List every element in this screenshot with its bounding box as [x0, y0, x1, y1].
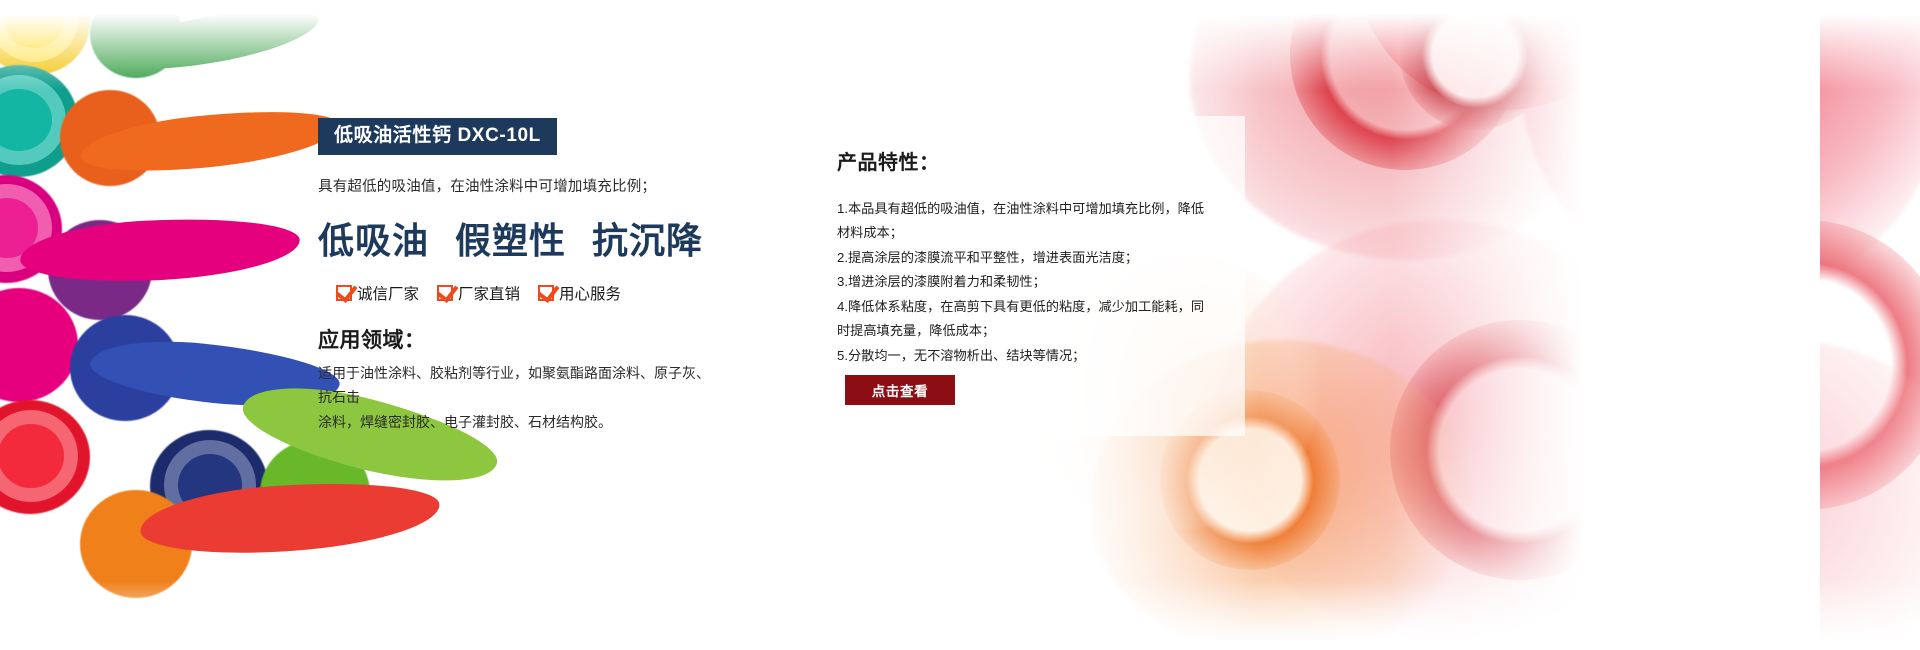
background-fade-mid — [1390, 0, 1820, 650]
application-fields-title: 应用领域： — [318, 324, 748, 354]
background-fade-top — [0, 0, 1920, 90]
checkbox-checked-icon — [437, 285, 453, 301]
checkbox-checked-icon — [538, 285, 554, 301]
feature-item: 4.降低体系粘度，在高剪下具有更低的粘度，减少加工能耗，同时提高填充量，降低成本… — [837, 295, 1215, 344]
view-details-button[interactable]: 点击查看 — [845, 375, 955, 405]
product-subtitle: 具有超低的吸油值，在油性涂料中可增加填充比例； — [318, 175, 748, 196]
headline-word-2: 假塑性 — [455, 221, 566, 261]
product-title-badge: 低吸油活性钙 DXC-10L — [318, 118, 557, 155]
trust-badge-1-label: 诚信厂家 — [357, 282, 419, 304]
feature-item: 2.提高涂层的漆膜流平和平整性，增进表面光洁度； — [837, 246, 1215, 270]
left-content-column: 低吸油活性钙 DXC-10L 具有超低的吸油值，在油性涂料中可增加填充比例； 低… — [318, 118, 748, 434]
feature-item: 3.增进涂层的漆膜附着力和柔韧性； — [837, 270, 1215, 294]
application-fields-line-2: 涂料，焊缝密封胶、电子灌封胶、石材结构胶。 — [318, 410, 718, 435]
features-list: 1.本品具有超低的吸油值，在油性涂料中可增加填充比例，降低材料成本； 2.提高涂… — [837, 197, 1215, 368]
trust-badges: 诚信厂家 厂家直销 用心服务 — [336, 282, 748, 304]
trust-badge-2-label: 厂家直销 — [458, 282, 520, 304]
product-banner: 低吸油活性钙 DXC-10L 具有超低的吸油值，在油性涂料中可增加填充比例； 低… — [0, 0, 1920, 650]
headline-keywords: 低吸油假塑性抗沉降 — [318, 212, 748, 264]
trust-badge-3-label: 用心服务 — [559, 282, 621, 304]
trust-badge-3: 用心服务 — [538, 282, 621, 304]
headline-word-1: 低吸油 — [318, 221, 429, 261]
features-panel-title: 产品特性： — [837, 146, 1215, 175]
application-fields-description: 适用于油性涂料、胶粘剂等行业，如聚氨酯路面涂料、原子灰、抗石击 涂料，焊缝密封胶… — [318, 361, 718, 435]
background-fade-bottom — [0, 580, 1920, 650]
trust-badge-1: 诚信厂家 — [336, 282, 419, 304]
checkbox-checked-icon — [336, 285, 352, 301]
headline-word-3: 抗沉降 — [592, 221, 703, 261]
feature-item: 5.分散均一，无不溶物析出、结块等情况； — [837, 344, 1215, 368]
feature-item: 1.本品具有超低的吸油值，在油性涂料中可增加填充比例，降低材料成本； — [837, 197, 1215, 246]
application-fields-line-1: 适用于油性涂料、胶粘剂等行业，如聚氨酯路面涂料、原子灰、抗石击 — [318, 361, 718, 410]
trust-badge-2: 厂家直销 — [437, 282, 520, 304]
